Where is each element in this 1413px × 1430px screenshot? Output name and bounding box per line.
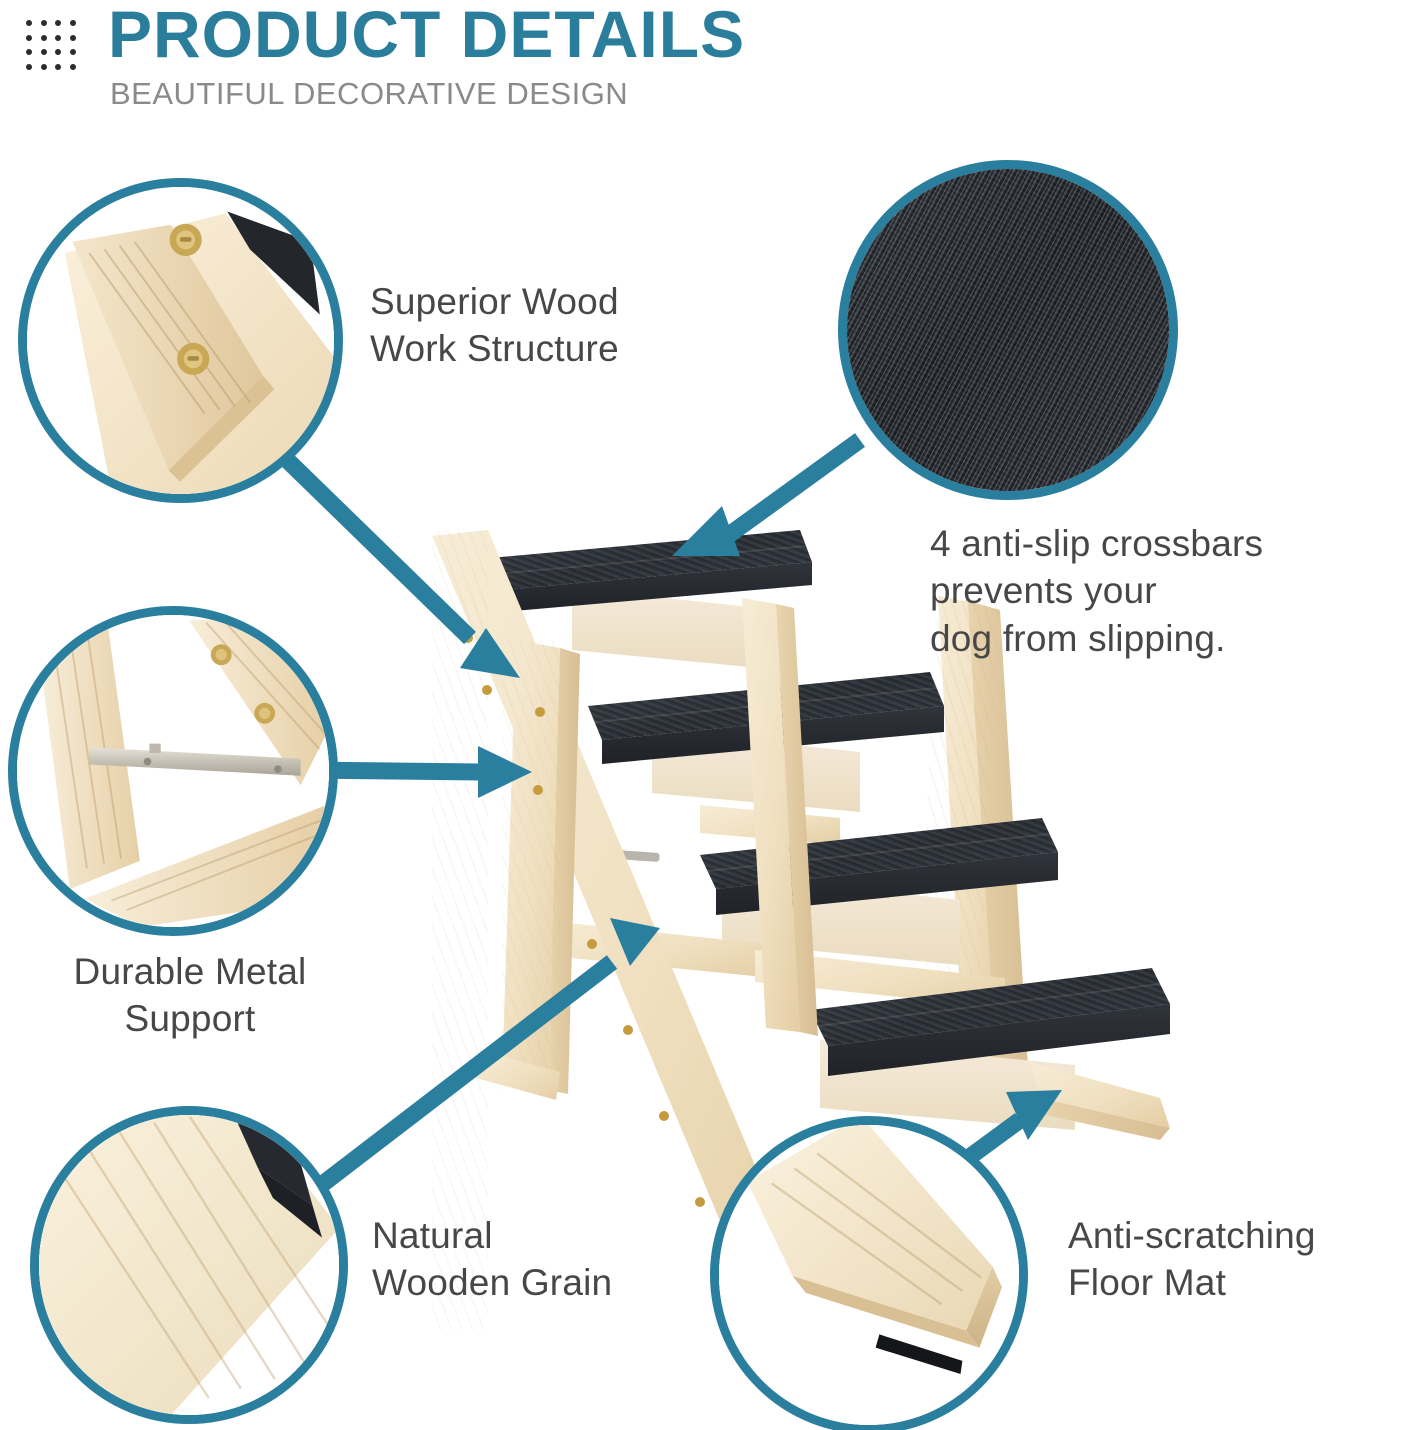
arrow-anti-slip-crossbars <box>672 440 860 556</box>
grid-dot <box>55 35 61 41</box>
header: PRODUCT DETAILS BEAUTIFUL DECORATIVE DES… <box>0 0 1413 130</box>
brass-screw <box>170 224 202 256</box>
callout-label-natural-wooden-grain: Natural Wooden Grain <box>372 1212 752 1307</box>
grid-dot <box>41 49 47 55</box>
grid-dot <box>41 64 47 70</box>
grid-dot <box>70 35 76 41</box>
callout-circle-superior-wood-work <box>18 178 343 503</box>
grid-dot <box>55 49 61 55</box>
photo-metal-folding-brace <box>17 615 329 927</box>
grid-dot <box>70 64 76 70</box>
grid-dot <box>26 49 32 55</box>
product-details-infographic: PRODUCT DETAILS BEAUTIFUL DECORATIVE DES… <box>0 0 1413 1430</box>
callout-label-anti-slip-crossbars: 4 anti-slip crossbars prevents your dog … <box>930 520 1390 662</box>
photo-ribbed-carpet-texture <box>847 169 1169 491</box>
brass-screw <box>211 644 232 665</box>
callout-label-durable-metal-support: Durable Metal Support <box>10 948 370 1043</box>
brass-screw <box>254 703 275 724</box>
grid-dot <box>26 35 32 41</box>
callout-circle-durable-metal-support <box>8 606 338 936</box>
dot-grid-decoration <box>22 16 80 74</box>
grid-dot <box>55 20 61 26</box>
arrow-natural-wooden-grain <box>320 918 660 1186</box>
grid-dot <box>41 35 47 41</box>
photo-leg-end-with-floor-pad <box>719 1125 1019 1425</box>
grid-dot <box>55 64 61 70</box>
grid-dot <box>70 20 76 26</box>
grid-dot <box>26 64 32 70</box>
page-title: PRODUCT DETAILS <box>108 0 745 71</box>
photo-wood-joint-with-brass-screws <box>27 187 334 494</box>
callout-circle-natural-wooden-grain <box>30 1106 348 1424</box>
photo-pine-board-grain <box>39 1115 339 1415</box>
callout-label-superior-wood-work: Superior Wood Work Structure <box>370 278 770 373</box>
callout-circle-anti-scratching-floor-mat <box>710 1116 1028 1430</box>
brass-screw <box>177 343 209 375</box>
grid-dot <box>26 20 32 26</box>
callout-label-anti-scratching-floor-mat: Anti-scratching Floor Mat <box>1068 1212 1413 1307</box>
page-subtitle: BEAUTIFUL DECORATIVE DESIGN <box>110 76 628 112</box>
grid-dot <box>41 20 47 26</box>
grid-dot <box>70 49 76 55</box>
callout-circle-anti-slip-crossbars <box>838 160 1178 500</box>
